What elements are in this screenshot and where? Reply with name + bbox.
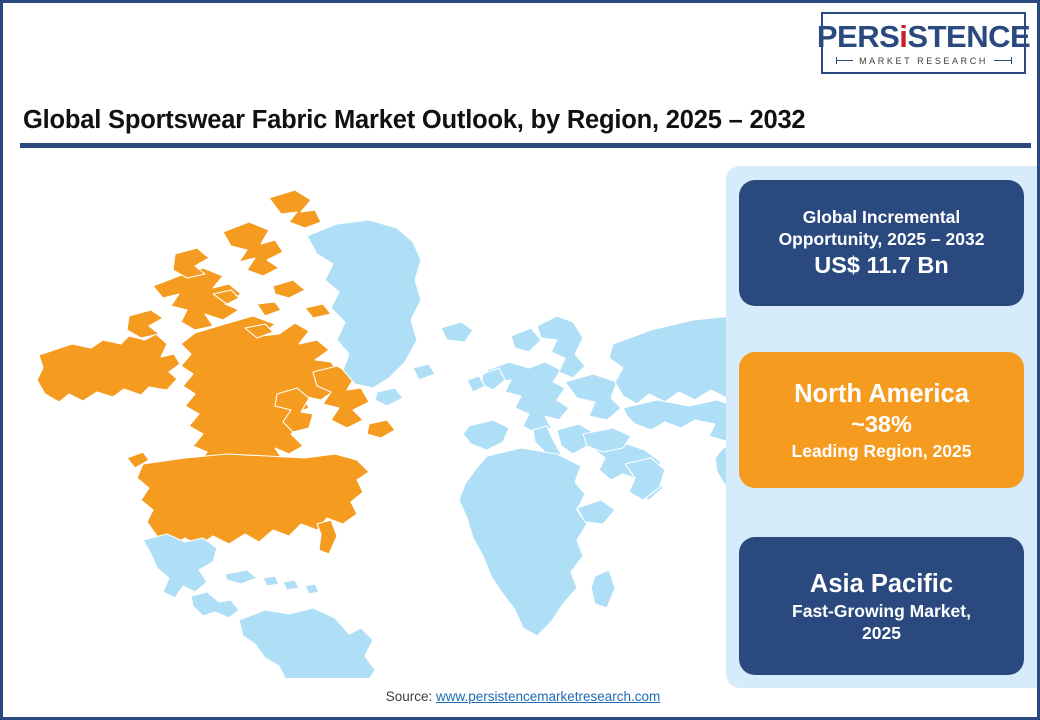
world-map xyxy=(17,158,727,678)
card-global-incremental-opportunity: Global Incremental Opportunity, 2025 – 2… xyxy=(739,180,1024,306)
card-1-line-0: North America xyxy=(794,378,969,410)
logo-wordmark-part1: PERS xyxy=(817,21,899,52)
highlights-panel: Global Incremental Opportunity, 2025 – 2… xyxy=(726,166,1040,688)
card-1-line-1: ~38% xyxy=(851,410,912,439)
logo-rule-left-icon xyxy=(836,60,854,61)
card-2-line-1: Fast-Growing Market, xyxy=(792,600,971,622)
logo-wordmark-accent: i xyxy=(899,21,907,52)
card-0-line-0: Global Incremental xyxy=(803,206,961,228)
card-2-line-2: 2025 xyxy=(862,622,901,644)
source-footer: Source: www.persistencemarketresearch.co… xyxy=(3,689,1040,704)
title-divider xyxy=(20,143,1031,148)
logo-wordmark-part2: STENCE xyxy=(907,21,1030,52)
page-title: Global Sportswear Fabric Market Outlook,… xyxy=(23,106,805,135)
card-0-line-1: Opportunity, 2025 – 2032 xyxy=(779,228,985,250)
card-fast-growing-market: Asia Pacific Fast-Growing Market, 2025 xyxy=(739,537,1024,675)
source-label: Source: xyxy=(386,689,436,704)
world-map-svg xyxy=(17,158,727,678)
logo-subtext: MARKET RESEARCH xyxy=(853,56,994,66)
infographic-page: PERSiSTENCE MARKET RESEARCH Global Sport… xyxy=(0,0,1040,720)
logo-wordmark: PERSiSTENCE xyxy=(817,21,1030,52)
card-leading-region: North America ~38% Leading Region, 2025 xyxy=(739,352,1024,488)
persistence-market-research-logo: PERSiSTENCE MARKET RESEARCH xyxy=(821,12,1026,74)
card-2-line-0: Asia Pacific xyxy=(810,568,953,600)
logo-rule-right-icon xyxy=(994,60,1012,61)
logo-subtitle-row: MARKET RESEARCH xyxy=(836,56,1012,66)
card-1-line-2: Leading Region, 2025 xyxy=(792,440,972,462)
source-link[interactable]: www.persistencemarketresearch.com xyxy=(436,689,660,704)
card-0-line-2: US$ 11.7 Bn xyxy=(814,251,949,280)
